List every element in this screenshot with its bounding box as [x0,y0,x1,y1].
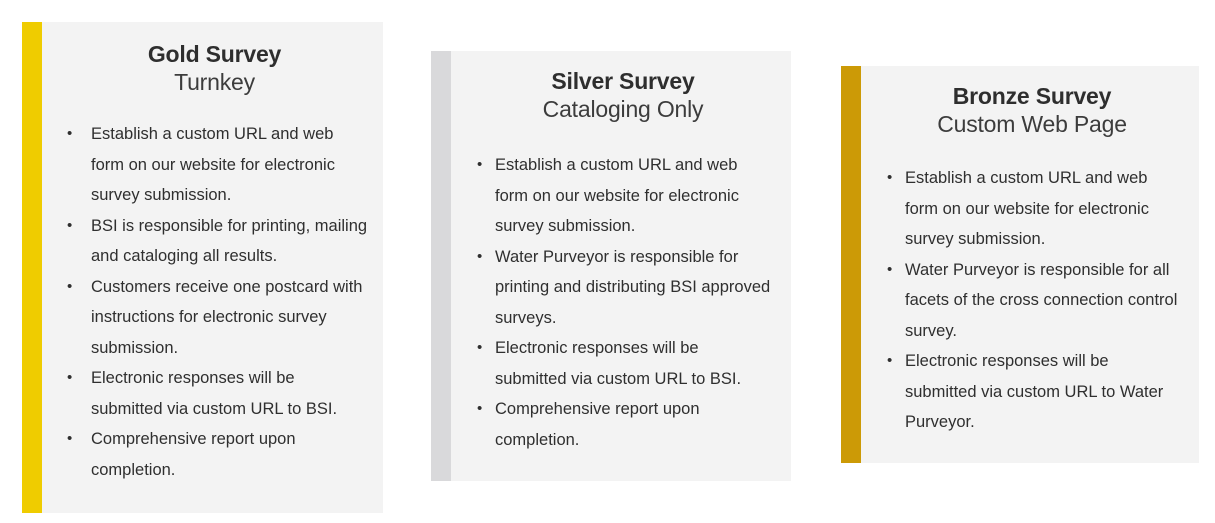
list-item: Electronic responses will be submitted v… [473,333,773,394]
list-item: Electronic responses will be submitted v… [883,346,1181,438]
survey-tier-card-gold[interactable]: Gold Survey Turnkey Establish a custom U… [22,22,383,513]
silver-card-title: Silver Survey [473,67,773,95]
silver-card-body: Silver Survey Cataloging Only Establish … [451,51,791,481]
bronze-card-body: Bronze Survey Custom Web Page Establish … [861,66,1199,463]
bronze-feature-list: Establish a custom URL and web form on o… [883,163,1181,438]
list-item: Establish a custom URL and web form on o… [473,150,773,242]
list-item: BSI is responsible for printing, mailing… [60,211,369,272]
bronze-accent-bar [841,66,861,463]
list-item: Water Purveyor is responsible for all fa… [883,255,1181,347]
bronze-card-title: Bronze Survey [883,82,1181,110]
list-item: Customers receive one postcard with inst… [60,272,369,364]
gold-card-subtitle: Turnkey [60,68,369,97]
gold-card-body: Gold Survey Turnkey Establish a custom U… [42,22,383,513]
survey-tier-comparison: Gold Survey Turnkey Establish a custom U… [0,0,1215,523]
gold-card-title: Gold Survey [60,40,369,68]
bronze-card-subtitle: Custom Web Page [883,110,1181,139]
silver-accent-bar [431,51,451,481]
list-item: Comprehensive report upon completion. [60,424,369,485]
silver-card-subtitle: Cataloging Only [473,95,773,124]
gold-accent-bar [22,22,42,513]
silver-card-heading: Silver Survey Cataloging Only [473,67,773,124]
silver-feature-list: Establish a custom URL and web form on o… [473,150,773,455]
survey-tier-card-bronze[interactable]: Bronze Survey Custom Web Page Establish … [841,66,1199,463]
survey-tier-card-silver[interactable]: Silver Survey Cataloging Only Establish … [431,51,791,481]
list-item: Electronic responses will be submitted v… [60,363,369,424]
gold-feature-list: Establish a custom URL and web form on o… [60,119,369,485]
list-item: Comprehensive report upon completion. [473,394,773,455]
bronze-card-heading: Bronze Survey Custom Web Page [883,82,1181,139]
list-item: Establish a custom URL and web form on o… [60,119,369,211]
list-item: Establish a custom URL and web form on o… [883,163,1181,255]
list-item: Water Purveyor is responsible for printi… [473,242,773,334]
gold-card-heading: Gold Survey Turnkey [60,40,369,97]
